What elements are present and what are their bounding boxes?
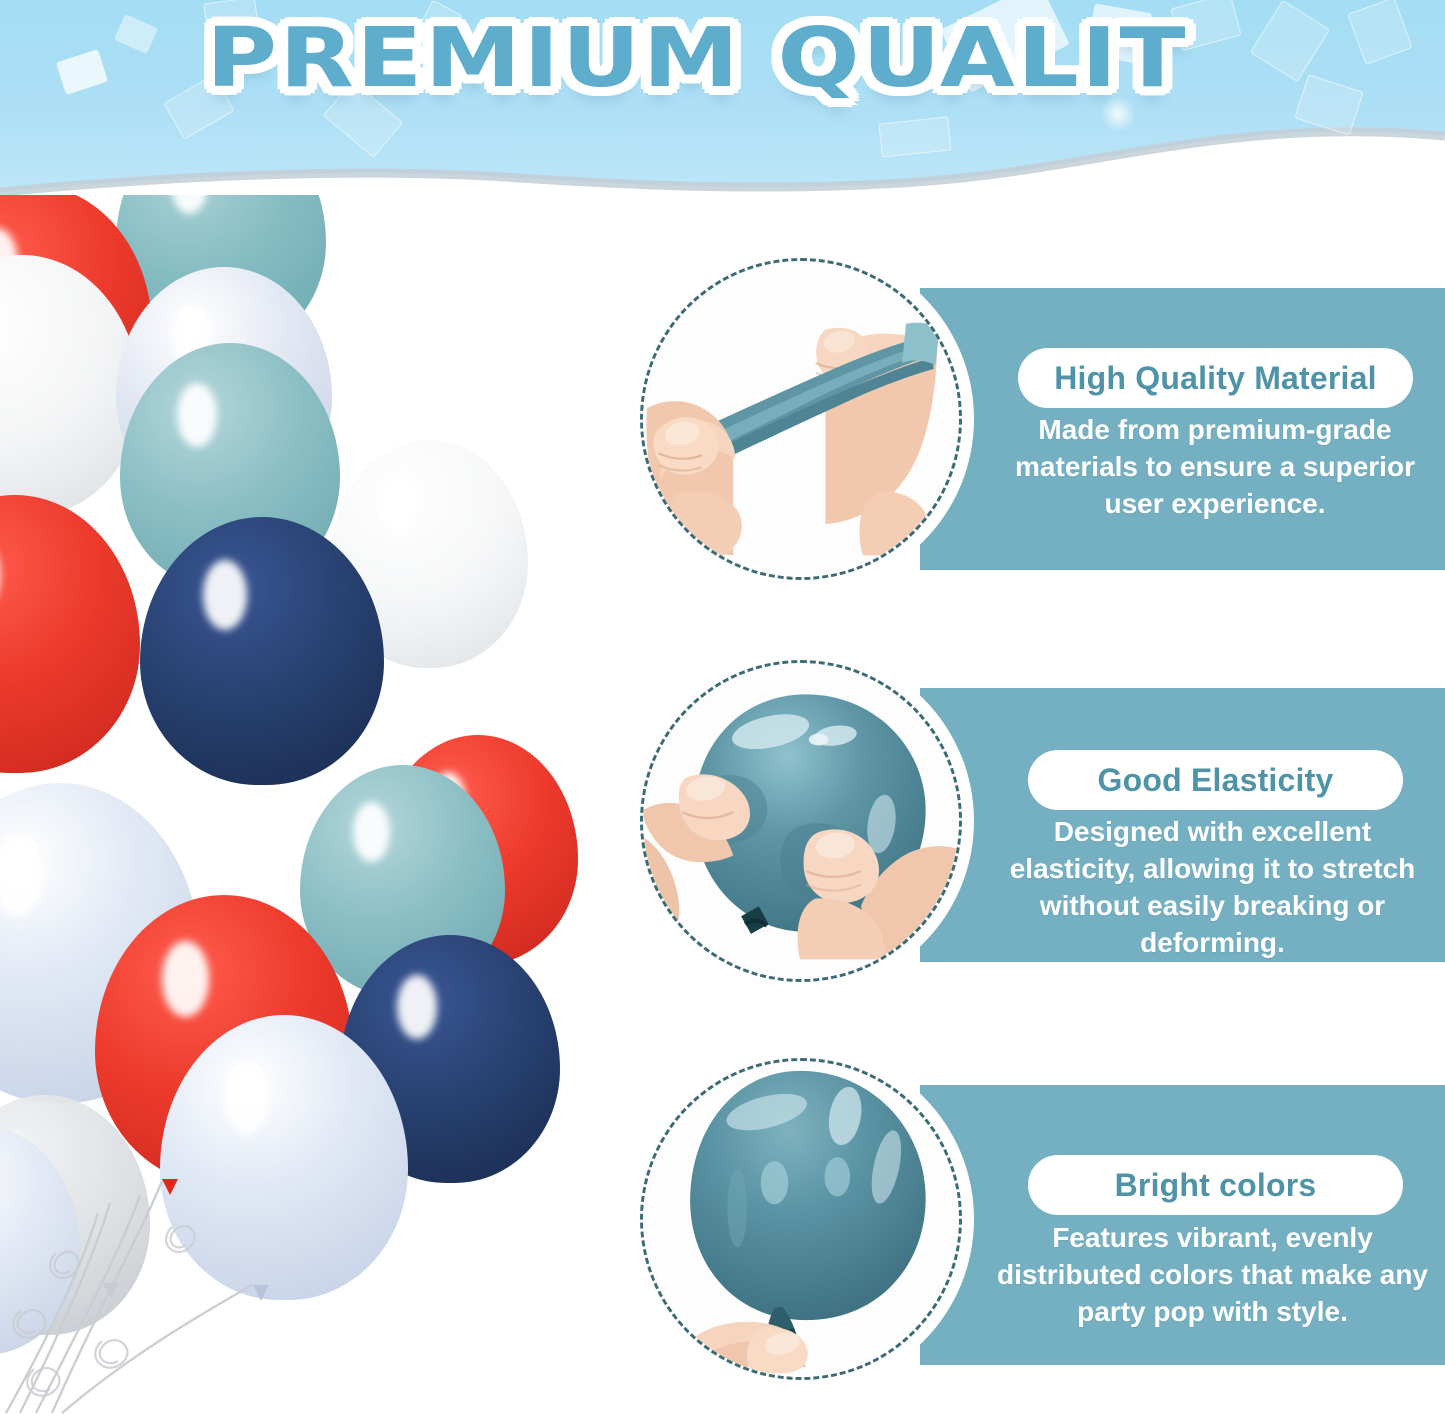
confetti-piece: [878, 116, 951, 157]
feature-title: High Quality Material: [1054, 360, 1376, 397]
header-banner: PREMIUM QUALIT: [0, 0, 1445, 200]
feature-band: [920, 288, 1445, 570]
feature-photo-circle: [640, 1058, 962, 1380]
feature-title-badge: Good Elasticity: [1028, 750, 1403, 810]
feature-band: [920, 688, 1445, 962]
feature-title: Bright colors: [1115, 1167, 1317, 1204]
hands-stretching-balloon-icon: [643, 261, 959, 577]
feature-title-badge: High Quality Material: [1018, 348, 1413, 408]
bokeh-glow: [700, 28, 742, 70]
hand-holding-balloon-icon: [643, 1061, 959, 1377]
balloon-ribbons: [0, 1155, 330, 1414]
balloon-cluster-photo: [0, 195, 600, 1414]
feature-title: Good Elasticity: [1098, 762, 1334, 799]
confetti-piece: [1086, 3, 1152, 64]
bokeh-glow: [300, 40, 330, 70]
feature-band: [920, 1085, 1445, 1365]
balloon-red: [0, 495, 140, 773]
infographic-page: PREMIUM QUALIT: [0, 0, 1445, 1414]
feature-photo-circle: [640, 660, 962, 982]
feature-description: Designed with excellent elasticity, allo…: [990, 814, 1435, 962]
feature-description: Made from premium-grade materials to ens…: [1000, 412, 1430, 523]
bokeh-glow: [1100, 96, 1136, 132]
feature-title-badge: Bright colors: [1028, 1155, 1403, 1215]
feature-photo-circle: [640, 258, 962, 580]
feature-description: Features vibrant, evenly distributed col…: [990, 1220, 1435, 1331]
hands-squeezing-balloon-icon: [643, 663, 959, 979]
